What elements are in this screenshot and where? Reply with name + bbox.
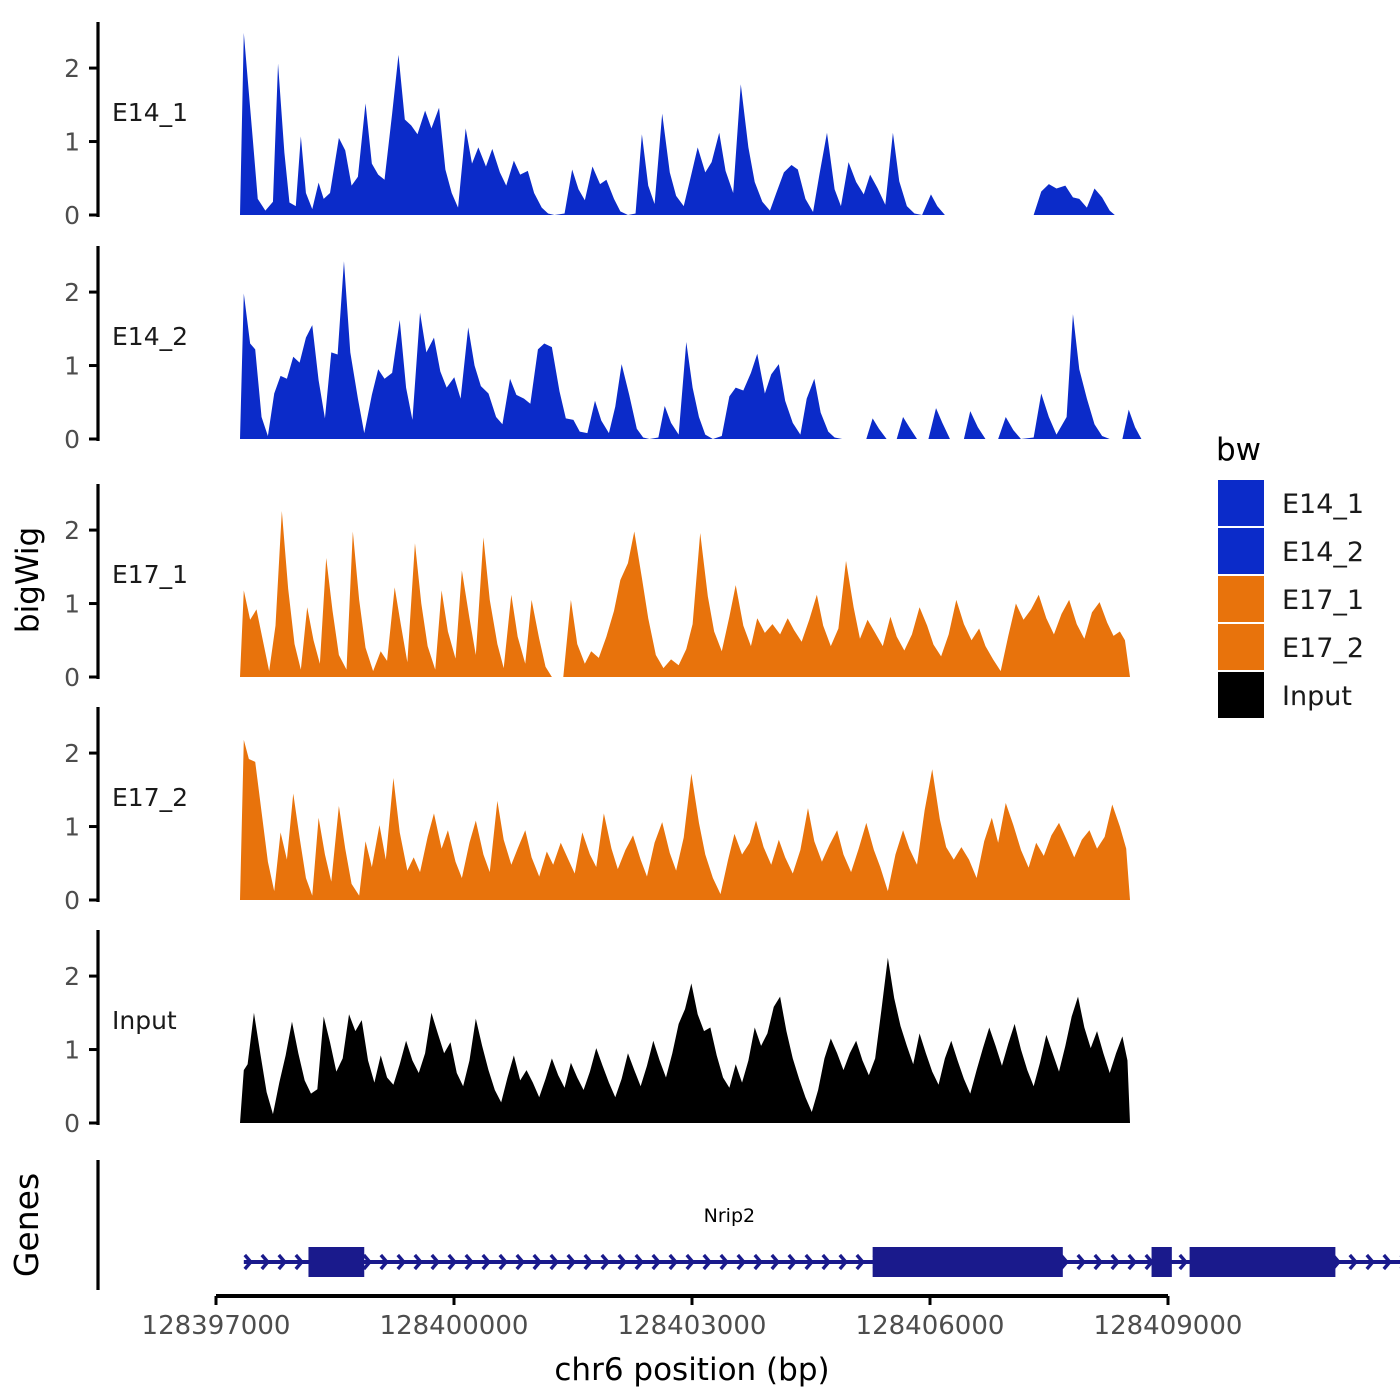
x-tick-label: 128406000 bbox=[856, 1311, 1005, 1341]
gene-exon bbox=[1190, 1247, 1336, 1277]
legend-item-e14_1[interactable]: E14_1 bbox=[1218, 480, 1364, 526]
wiggle-area-e17_1 bbox=[563, 532, 1130, 677]
track-panel-e14_2: 012E14_2 bbox=[64, 246, 1141, 454]
gene-exon bbox=[308, 1247, 364, 1277]
gene-exon bbox=[873, 1247, 1063, 1277]
wiggle-area-e14_1 bbox=[240, 33, 945, 215]
wiggle-area-e14_2 bbox=[897, 417, 917, 439]
legend-title: bw bbox=[1216, 432, 1261, 468]
track-label-input: Input bbox=[112, 1006, 177, 1035]
genome-browser-figure: 012E14_1012E14_2012E17_1012E17_2012Input… bbox=[0, 0, 1400, 1400]
y-tick-label: 0 bbox=[64, 886, 80, 915]
track-label-e17_2: E17_2 bbox=[112, 783, 188, 812]
x-tick-label: 128397000 bbox=[142, 1311, 291, 1341]
track-panel-e17_1: 012E17_1 bbox=[64, 484, 1130, 692]
y-tick-label: 2 bbox=[64, 739, 80, 768]
legend-swatch bbox=[1218, 624, 1264, 670]
y-tick-label: 0 bbox=[64, 663, 80, 692]
gene-exon bbox=[1152, 1247, 1172, 1277]
legend-swatch bbox=[1218, 480, 1264, 526]
track-panel-e14_1: 012E14_1 bbox=[64, 22, 1115, 230]
track-label-e14_1: E14_1 bbox=[112, 98, 188, 127]
legend-label: E14_2 bbox=[1282, 537, 1364, 568]
wiggle-area-e14_2 bbox=[998, 314, 1110, 439]
wiggle-area-e17_2 bbox=[240, 740, 1130, 900]
wiggle-area-e14_1 bbox=[1034, 184, 1115, 215]
y-axis-title: bigWig bbox=[10, 527, 46, 633]
y-tick-label: 2 bbox=[64, 278, 80, 307]
y-tick-label: 1 bbox=[64, 352, 80, 381]
gene-name-label: Nrip2 bbox=[704, 1205, 755, 1227]
legend-label: Input bbox=[1282, 681, 1352, 712]
legend: bwE14_1E14_2E17_1E17_2Input bbox=[1216, 432, 1364, 718]
genes-strip-label: Genes bbox=[7, 1173, 46, 1277]
y-tick-label: 1 bbox=[64, 813, 80, 842]
y-tick-label: 0 bbox=[64, 1109, 80, 1138]
track-label-e14_2: E14_2 bbox=[112, 322, 188, 351]
x-axis-title: chr6 position (bp) bbox=[554, 1352, 829, 1388]
wiggle-area-e14_2 bbox=[240, 261, 842, 439]
y-tick-label: 1 bbox=[64, 128, 80, 157]
wiggle-area-e14_2 bbox=[866, 418, 886, 439]
wiggle-area-e14_2 bbox=[928, 408, 950, 439]
x-tick-label: 128409000 bbox=[1094, 1311, 1243, 1341]
track-panel-input: 012Input bbox=[64, 930, 1130, 1138]
wiggle-area-input bbox=[240, 958, 1130, 1123]
track-panel-e17_2: 012E17_2 bbox=[64, 707, 1130, 915]
genes-track-panel: GenesNrip2 bbox=[7, 1160, 1400, 1290]
wiggle-area-e17_1 bbox=[240, 511, 552, 677]
x-tick-label: 128400000 bbox=[380, 1311, 529, 1341]
y-tick-label: 1 bbox=[64, 1036, 80, 1065]
legend-swatch bbox=[1218, 528, 1264, 574]
y-tick-label: 1 bbox=[64, 590, 80, 619]
legend-label: E17_2 bbox=[1282, 633, 1364, 664]
y-tick-label: 2 bbox=[64, 962, 80, 991]
wiggle-area-e14_2 bbox=[1122, 410, 1141, 439]
legend-item-e17_1[interactable]: E17_1 bbox=[1218, 576, 1364, 622]
y-tick-label: 2 bbox=[64, 516, 80, 545]
figure-canvas: 012E14_1012E14_2012E17_1012E17_2012Input… bbox=[0, 0, 1400, 1400]
y-tick-label: 2 bbox=[64, 54, 80, 83]
legend-swatch bbox=[1218, 672, 1264, 718]
legend-swatch bbox=[1218, 576, 1264, 622]
track-label-e17_1: E17_1 bbox=[112, 560, 188, 589]
legend-label: E14_1 bbox=[1282, 489, 1364, 520]
legend-label: E17_1 bbox=[1282, 585, 1364, 616]
legend-item-input[interactable]: Input bbox=[1218, 672, 1352, 718]
y-tick-label: 0 bbox=[64, 201, 80, 230]
y-tick-label: 0 bbox=[64, 425, 80, 454]
x-tick-label: 128403000 bbox=[618, 1311, 767, 1341]
wiggle-area-e14_2 bbox=[964, 411, 986, 439]
legend-item-e17_2[interactable]: E17_2 bbox=[1218, 624, 1364, 670]
legend-item-e14_2[interactable]: E14_2 bbox=[1218, 528, 1364, 574]
